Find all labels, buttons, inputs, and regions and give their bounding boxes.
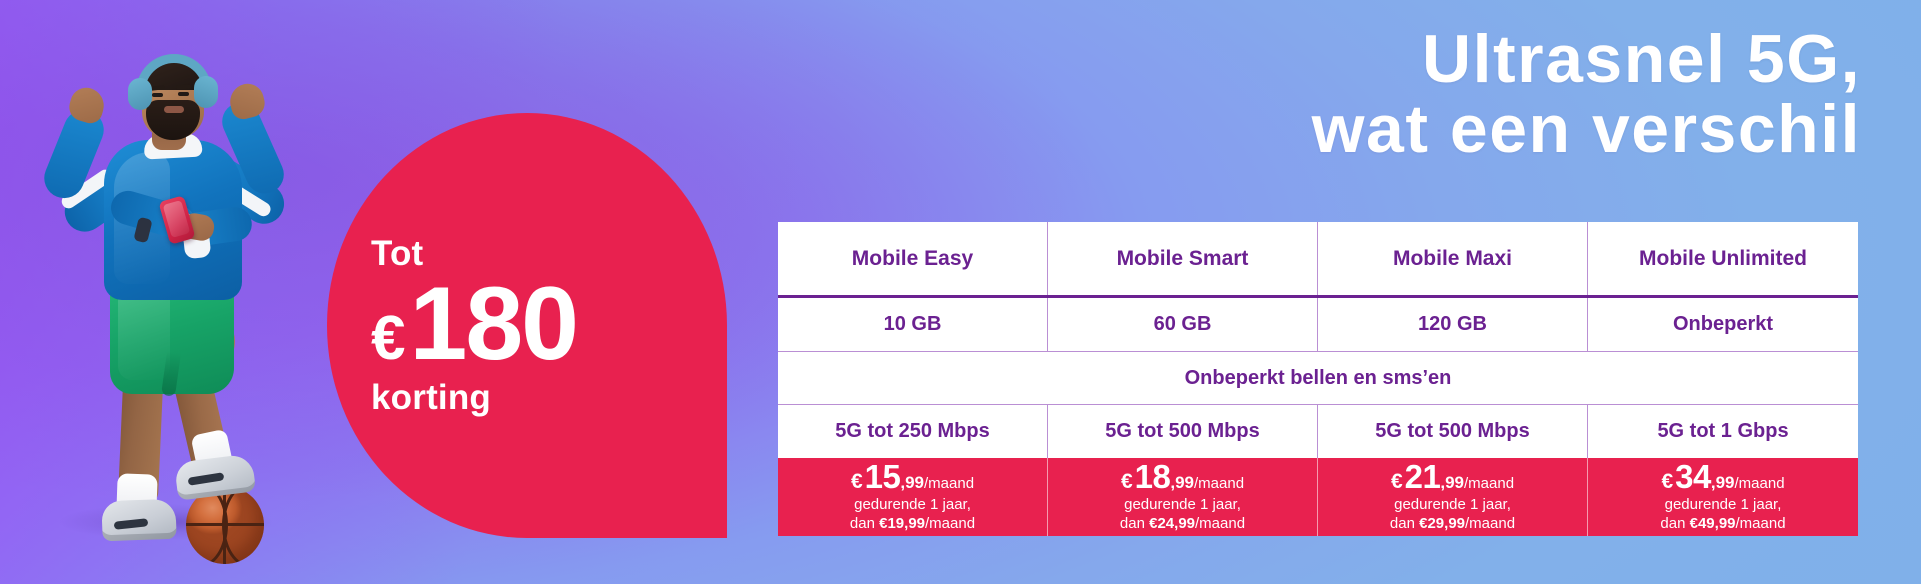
price-currency: €: [1661, 471, 1673, 492]
speed-cell: 5G tot 500 Mbps: [1048, 405, 1318, 458]
price-after-value: €24,99: [1149, 515, 1195, 532]
price-main: € 34 ,99 /maand: [1661, 460, 1784, 493]
unlimited-calls-row: Onbeperkt bellen en sms’en: [778, 352, 1858, 403]
data-allowance-cell: Onbeperkt: [1588, 298, 1858, 351]
price-integer: 15: [865, 460, 901, 493]
headline: Ultrasnel 5G, wat een verschil: [1312, 24, 1861, 164]
price-after-value: €19,99: [879, 515, 925, 532]
price-cell[interactable]: € 21 ,99 /maand gedurende 1 jaar, dan €2…: [1318, 458, 1588, 536]
plan-name-cell[interactable]: Mobile Maxi: [1318, 222, 1588, 295]
price-term-duration: gedurende 1 jaar,: [1124, 496, 1241, 513]
price-after-value: €49,99: [1690, 515, 1736, 532]
table-row-plan-names: Mobile Easy Mobile Smart Mobile Maxi Mob…: [778, 222, 1858, 295]
price-after-prefix: dan: [1120, 515, 1149, 532]
price-terms: gedurende 1 jaar, dan €29,99/maand: [1390, 496, 1515, 533]
discount-value: 180: [409, 277, 577, 373]
price-currency: €: [1391, 471, 1403, 492]
price-integer: 21: [1405, 460, 1441, 493]
price-cell[interactable]: € 18 ,99 /maand gedurende 1 jaar, dan €2…: [1048, 458, 1318, 536]
plan-name-cell[interactable]: Mobile Smart: [1048, 222, 1318, 295]
speed-cell: 5G tot 500 Mbps: [1318, 405, 1588, 458]
speed-cell: 5G tot 250 Mbps: [778, 405, 1048, 458]
price-integer: 18: [1135, 460, 1171, 493]
discount-suffix: korting: [371, 380, 727, 415]
price-after-period: /maand: [1195, 515, 1245, 532]
discount-currency: €: [371, 310, 405, 367]
headphone-cup-left: [128, 78, 152, 110]
model-photo: [18, 34, 318, 554]
price-cents: ,99: [1170, 474, 1194, 491]
price-after-prefix: dan: [1390, 515, 1419, 532]
price-main: € 21 ,99 /maand: [1391, 460, 1514, 493]
price-currency: €: [851, 471, 863, 492]
promo-banner: Tot € 180 korting Ultrasnel 5G, wat een …: [0, 0, 1921, 584]
price-after-period: /maand: [1736, 515, 1786, 532]
plan-name-cell[interactable]: Mobile Unlimited: [1588, 222, 1858, 295]
price-terms: gedurende 1 jaar, dan €24,99/maand: [1120, 496, 1245, 533]
price-integer: 34: [1675, 460, 1711, 493]
price-cents: ,99: [1440, 474, 1464, 491]
data-allowance-cell: 10 GB: [778, 298, 1048, 351]
table-row-prices: € 15 ,99 /maand gedurende 1 jaar, dan €1…: [778, 458, 1858, 536]
price-term-duration: gedurende 1 jaar,: [1665, 496, 1782, 513]
price-currency: €: [1121, 471, 1133, 492]
price-after-prefix: dan: [850, 515, 879, 532]
table-row-data-allowance: 10 GB 60 GB 120 GB Onbeperkt: [778, 298, 1858, 351]
headphone-cup-right: [194, 76, 218, 108]
headline-line-2: wat een verschil: [1312, 94, 1861, 164]
tariff-table: Mobile Easy Mobile Smart Mobile Maxi Mob…: [778, 222, 1858, 536]
shorts-highlight: [118, 286, 170, 380]
price-after-prefix: dan: [1660, 515, 1689, 532]
speed-cell: 5G tot 1 Gbps: [1588, 405, 1858, 458]
mouth: [164, 106, 184, 113]
price-terms: gedurende 1 jaar, dan €19,99/maand: [850, 496, 975, 533]
price-period: /maand: [1735, 476, 1785, 491]
headline-line-1: Ultrasnel 5G,: [1312, 24, 1861, 94]
price-period: /maand: [1194, 476, 1244, 491]
price-main: € 15 ,99 /maand: [851, 460, 974, 493]
table-row-speed: 5G tot 250 Mbps 5G tot 500 Mbps 5G tot 5…: [778, 405, 1858, 458]
price-after-period: /maand: [925, 515, 975, 532]
price-cell[interactable]: € 34 ,99 /maand gedurende 1 jaar, dan €4…: [1588, 458, 1858, 536]
price-cell[interactable]: € 15 ,99 /maand gedurende 1 jaar, dan €1…: [778, 458, 1048, 536]
price-term-duration: gedurende 1 jaar,: [854, 496, 971, 513]
price-cents: ,99: [900, 474, 924, 491]
plan-name-cell[interactable]: Mobile Easy: [778, 222, 1048, 295]
data-allowance-cell: 120 GB: [1318, 298, 1588, 351]
price-after-value: €29,99: [1419, 515, 1465, 532]
price-period: /maand: [1464, 476, 1514, 491]
price-term-duration: gedurende 1 jaar,: [1394, 496, 1511, 513]
price-period: /maand: [924, 476, 974, 491]
price-cents: ,99: [1711, 474, 1735, 491]
discount-amount: € 180: [371, 277, 727, 373]
price-after-period: /maand: [1465, 515, 1515, 532]
price-main: € 18 ,99 /maand: [1121, 460, 1244, 493]
data-allowance-cell: 60 GB: [1048, 298, 1318, 351]
price-terms: gedurende 1 jaar, dan €49,99/maand: [1660, 496, 1785, 533]
discount-badge: Tot € 180 korting: [327, 113, 727, 538]
